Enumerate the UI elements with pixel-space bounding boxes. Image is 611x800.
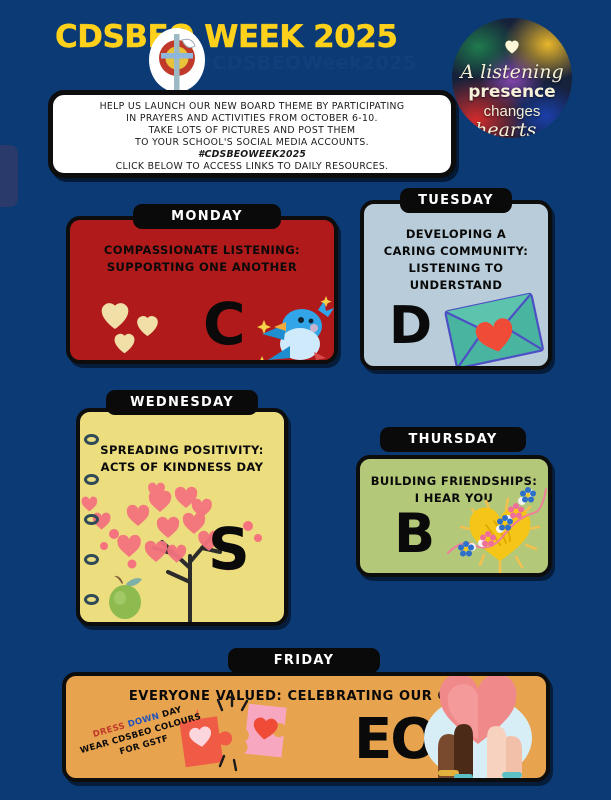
tuesday-title-line-2: CARING COMMUNITY: xyxy=(364,243,548,260)
hands-holding-heart-icon xyxy=(414,686,542,782)
day-tab-monday[interactable]: MONDAY xyxy=(133,204,281,229)
monday-letter: C xyxy=(203,295,246,353)
badge-line-2: presence xyxy=(452,82,572,102)
badge-line-3-script: hearts xyxy=(475,119,536,138)
day-card-tuesday[interactable]: DEVELOPING A CARING COMMUNITY: LISTENING… xyxy=(360,200,552,370)
spiral-binding-icon xyxy=(84,594,99,605)
tuesday-title-line-1: DEVELOPING A xyxy=(364,226,548,243)
day-tab-wednesday[interactable]: WEDNESDAY xyxy=(106,390,258,415)
day-tab-thursday[interactable]: THURSDAY xyxy=(380,427,526,452)
theme-badge: A listening presence changes hearts... xyxy=(452,18,572,138)
badge-line-3: changes hearts... xyxy=(452,102,572,138)
wednesday-title-line-2: ACTS OF KINDNESS DAY xyxy=(80,459,284,476)
day-card-monday[interactable]: COMPASSIONATE LISTENING: SUPPORTING ONE … xyxy=(66,216,338,364)
monday-title: COMPASSIONATE LISTENING: SUPPORTING ONE … xyxy=(70,242,334,276)
day-tab-friday[interactable]: FRIDAY xyxy=(228,648,380,673)
callout-line-1: HELP US LAUNCH OUR NEW BOARD THEME BY PA… xyxy=(61,101,443,113)
tuesday-title-line-3: LISTENING TO UNDERSTAND xyxy=(364,260,548,294)
badge-line-3-tail: ... xyxy=(536,123,549,138)
tuesday-letter: D xyxy=(389,300,432,352)
friendship-bracelet-icon xyxy=(442,481,552,577)
spiral-binding-icon xyxy=(84,474,99,485)
poster-canvas: CDSBEO WEEK 2025 #CDSBEOWeek2025 A liste… xyxy=(0,0,611,800)
day-card-wednesday[interactable]: SPREADING POSITIVITY: ACTS OF KINDNESS D… xyxy=(76,408,288,626)
envelope-icon xyxy=(442,290,546,370)
background-edge-tile xyxy=(0,145,18,207)
day-tab-tuesday[interactable]: TUESDAY xyxy=(400,188,512,213)
heart-icon xyxy=(502,36,522,56)
hashtag-watermark: #CDSBEOWeek2025 xyxy=(196,52,417,74)
callout-line-3: TAKE LOTS OF PICTURES AND POST THEM xyxy=(61,125,443,137)
badge-line-1: A listening xyxy=(452,62,572,82)
tuesday-title: DEVELOPING A CARING COMMUNITY: LISTENING… xyxy=(364,226,548,294)
wednesday-title-line-1: SPREADING POSITIVITY: xyxy=(80,442,284,459)
cdsbeo-crest-icon xyxy=(148,26,206,94)
callout-line-2: IN PRAYERS AND ACTIVITIES FROM OCTOBER 6… xyxy=(61,113,443,125)
apple-icon xyxy=(100,570,150,622)
wednesday-title: SPREADING POSITIVITY: ACTS OF KINDNESS D… xyxy=(80,442,284,476)
callout-bubble: HELP US LAUNCH OUR NEW BOARD THEME BY PA… xyxy=(48,90,456,178)
spiral-binding-icon xyxy=(84,434,99,445)
heart-icon xyxy=(109,327,140,357)
wednesday-letter: S xyxy=(208,520,250,578)
spiral-binding-icon xyxy=(84,554,99,565)
day-card-thursday[interactable]: BUILDING FRIENDSHIPS: I HEAR YOU B xyxy=(356,455,552,577)
sparkle-icon xyxy=(214,694,254,772)
bluebird-icon xyxy=(256,290,336,364)
day-card-friday[interactable]: EVERYONE VALUED: CELEBRATING OUR GIFTS E… xyxy=(62,672,550,782)
monday-title-line-2: SUPPORTING ONE ANOTHER xyxy=(70,259,334,276)
callout-hashtag: #CDSBEOWEEK2025 xyxy=(61,149,443,161)
spiral-binding-icon xyxy=(84,514,99,525)
badge-line-3-small: changes xyxy=(484,103,541,120)
callout-cta: CLICK BELOW TO ACCESS LINKS TO DAILY RES… xyxy=(61,161,443,173)
badge-text-block: A listening presence changes hearts... xyxy=(452,62,572,138)
thursday-letter: B xyxy=(394,507,435,561)
monday-title-line-1: COMPASSIONATE LISTENING: xyxy=(70,242,334,259)
callout-line-4: TO YOUR SCHOOL'S SOCIAL MEDIA ACCOUNTS. xyxy=(61,137,443,149)
